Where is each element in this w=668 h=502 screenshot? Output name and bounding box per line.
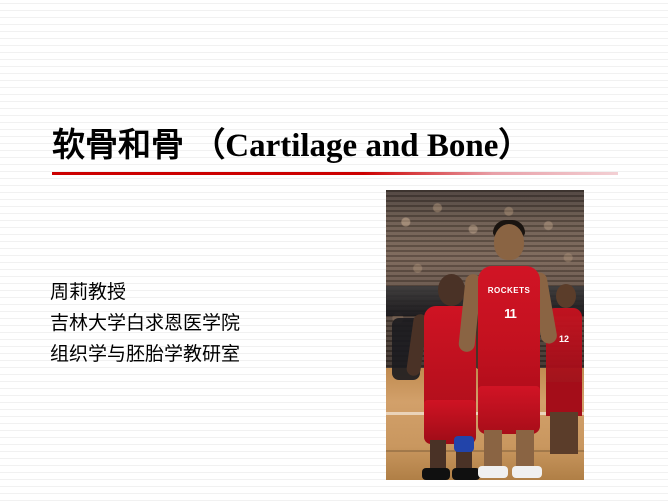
- short-player-knee-brace: [454, 436, 474, 452]
- title-block: 软骨和骨 （Cartilage and Bone）: [52, 118, 622, 175]
- page-title: 软骨和骨 （Cartilage and Bone）: [52, 118, 622, 166]
- background-player-head: [556, 284, 576, 308]
- background-player-legs: [550, 412, 578, 454]
- tall-player-head: [494, 224, 524, 260]
- short-player-head: [438, 274, 465, 306]
- tall-player-team-text: ROCKETS: [483, 286, 535, 295]
- basketball-players-photo: 12 ROCKETS 11: [386, 190, 584, 480]
- tall-player-right-shoe: [512, 466, 542, 478]
- tall-player-left-shoe: [478, 466, 508, 478]
- subtitle-line-department: 组织学与胚胎学教研室: [50, 339, 350, 370]
- subtitle-line-institution: 吉林大学白求恩医学院: [50, 308, 350, 339]
- tall-player-shorts: [478, 386, 540, 434]
- subtitle-line-author: 周莉教授: [50, 277, 350, 308]
- background-player-shorts: [546, 382, 582, 416]
- slide-canvas: 软骨和骨 （Cartilage and Bone） 周莉教授 吉林大学白求恩医学…: [0, 0, 668, 502]
- short-player-right-shoe: [452, 468, 480, 480]
- subtitle-block: 周莉教授 吉林大学白求恩医学院 组织学与胚胎学教研室: [50, 277, 350, 370]
- short-player-left-shoe: [422, 468, 450, 480]
- tall-player-number: 11: [498, 306, 522, 321]
- title-underline-rule: [52, 172, 618, 175]
